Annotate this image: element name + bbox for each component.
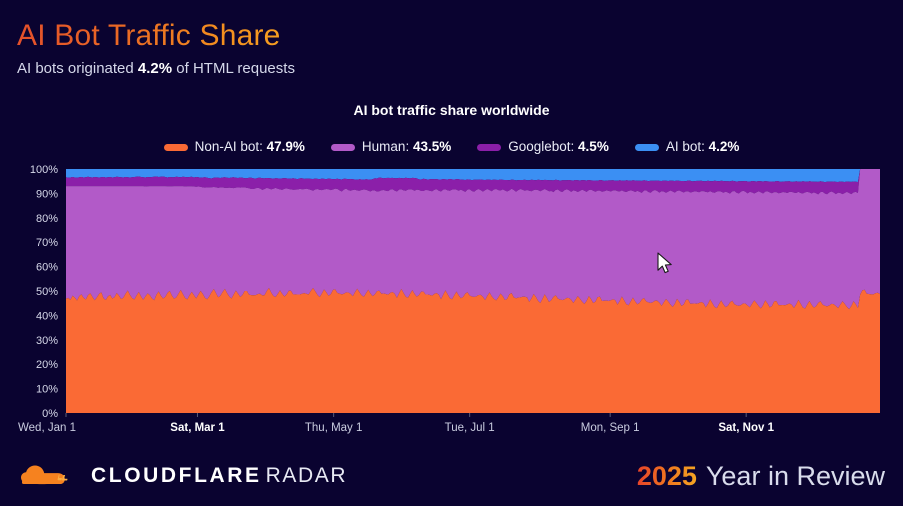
y-axis-tick: 10%	[36, 384, 58, 396]
x-axis: Wed, Jan 1Sat, Mar 1Thu, May 1Tue, Jul 1…	[0, 413, 903, 445]
y-axis-tick: 60%	[36, 262, 58, 274]
x-axis-tick-label: Sat, Mar 1	[170, 422, 225, 434]
legend-googlebot-swatch	[477, 144, 501, 151]
year-in-review-card: AI Bot Traffic Share AI bots originated …	[0, 0, 903, 506]
legend-human-swatch	[331, 144, 355, 151]
legend-ai-bot-value: 4.2%	[709, 139, 740, 154]
footer: CLOUDFLARE RADAR 2025 Year in Review	[0, 450, 903, 506]
stacked-area-chart[interactable]: 100%90%80%70%60%50%40%30%20%10%0%	[0, 160, 903, 420]
y-axis-tick: 50%	[36, 286, 58, 298]
legend-ai-bot-swatch	[635, 144, 659, 151]
chart-title: AI bot traffic share worldwide	[0, 102, 903, 118]
area-band-non-ai-bot[interactable]	[66, 288, 880, 413]
y-axis-tick: 20%	[36, 359, 58, 371]
page-title: AI Bot Traffic Share	[17, 18, 295, 54]
y-axis-tick: 30%	[36, 335, 58, 347]
product-name: RADAR	[266, 464, 348, 488]
x-axis-tick-label: Thu, May 1	[305, 422, 363, 434]
legend-non-ai-bot-label: Non-AI bot:	[195, 139, 267, 154]
y-axis-tick: 70%	[36, 237, 58, 249]
x-axis-tick-label: Tue, Jul 1	[445, 422, 495, 434]
chart-plot-area: 100%90%80%70%60%50%40%30%20%10%0%	[0, 160, 903, 420]
legend-googlebot-label: Googlebot:	[508, 139, 578, 154]
subtitle-highlight-value: 4.2%	[138, 60, 172, 77]
subtitle-suffix: of HTML requests	[172, 60, 295, 77]
tagline-label: Year in Review	[706, 461, 885, 492]
page-subtitle: AI bots originated 4.2% of HTML requests	[17, 59, 295, 78]
year-in-review-label: 2025 Year in Review	[637, 461, 885, 492]
x-axis-tick-label: Sat, Nov 1	[718, 422, 774, 434]
subtitle-prefix: AI bots originated	[17, 60, 138, 77]
legend-human-value: 43.5%	[413, 139, 451, 154]
legend-ai-bot-label: AI bot:	[666, 139, 709, 154]
legend-googlebot[interactable]: Googlebot: 4.5%	[477, 138, 609, 156]
legend-human-label: Human:	[362, 139, 413, 154]
chart-legend: Non-AI bot: 47.9%Human: 43.5%Googlebot: …	[0, 138, 903, 156]
legend-non-ai-bot-value: 47.9%	[267, 139, 305, 154]
x-axis-tick-label: Wed, Jan 1	[18, 422, 76, 434]
header: AI Bot Traffic Share AI bots originated …	[17, 18, 295, 78]
cloudflare-cloud-icon	[18, 462, 78, 490]
year-label: 2025	[637, 461, 697, 492]
y-axis-tick: 80%	[36, 213, 58, 225]
legend-ai-bot[interactable]: AI bot: 4.2%	[635, 138, 740, 156]
y-axis-tick: 90%	[36, 188, 58, 200]
legend-non-ai-bot-swatch	[164, 144, 188, 151]
legend-human[interactable]: Human: 43.5%	[331, 138, 451, 156]
brand-name: CLOUDFLARE	[91, 464, 262, 488]
x-axis-tick-label: Mon, Sep 1	[581, 422, 640, 434]
legend-googlebot-value: 4.5%	[578, 139, 609, 154]
legend-non-ai-bot[interactable]: Non-AI bot: 47.9%	[164, 138, 305, 156]
cloudflare-radar-brand: CLOUDFLARE RADAR	[18, 462, 347, 490]
y-axis-tick: 40%	[36, 310, 58, 322]
y-axis-tick: 100%	[30, 164, 58, 176]
